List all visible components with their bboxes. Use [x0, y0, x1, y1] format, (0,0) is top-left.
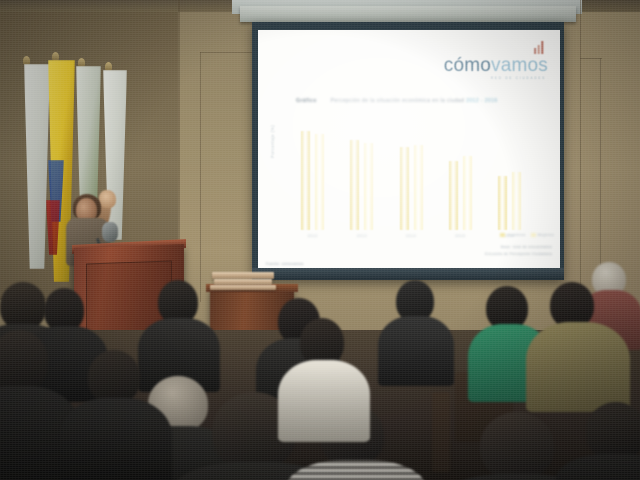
shoulders: [278, 360, 370, 442]
projector-screen-housing: [240, 6, 576, 22]
flag-finial-2: [52, 52, 59, 61]
chart-bar: [400, 147, 409, 230]
chart-bar-group: [400, 145, 423, 230]
head: [586, 402, 640, 460]
chart-bar: [512, 172, 521, 230]
head: [88, 350, 140, 404]
chart-bar: [301, 131, 310, 230]
flag-finial-1: [23, 56, 30, 65]
chair-back-2: [432, 392, 450, 472]
chart-title-main: Percepción de la situación económica en …: [331, 98, 465, 104]
chart-x-label: 2012: [288, 233, 337, 238]
conference-room-photo: cómovamos RED DE CIUDADES GráficoPercepc…: [0, 0, 640, 480]
logo-text-secondary: vamos: [491, 55, 548, 76]
projector-screen-surface: cómovamos RED DE CIUDADES GráficoPercepc…: [258, 30, 560, 274]
cómovamos-logo: cómovamos: [444, 56, 548, 75]
chart-bar: [315, 134, 324, 230]
chart-legend-label: Hombres: [507, 232, 525, 237]
head: [300, 318, 344, 366]
chart-title-highlight: 2012 - 2016: [466, 98, 498, 104]
projector-screen-bottom-bar: [252, 268, 564, 280]
chart-plot-area: [288, 118, 534, 230]
chart-legend-label: Mujeres: [538, 232, 554, 237]
chart-bar: [350, 140, 359, 230]
chart-bar: [498, 176, 507, 230]
chart-legend-item: Mujeres: [531, 232, 554, 237]
shoulders: [526, 322, 630, 412]
chart-x-label: 2013: [337, 233, 386, 238]
flag-finial-3: [78, 58, 85, 67]
chart-title-lead: Gráfico: [296, 98, 317, 104]
head: [480, 412, 554, 480]
chart-x-label: 2014: [386, 233, 435, 238]
chart-bar: [463, 156, 472, 230]
slide-footnote: Base: total de encuestados Encuesta de P…: [485, 244, 552, 258]
chart-bar-group: [301, 131, 324, 230]
chart-legend-item: Hombres: [500, 232, 525, 237]
shoulders: [60, 398, 172, 480]
chart-bar: [414, 145, 423, 230]
wall-seam-right3: [580, 58, 602, 59]
microphone: [102, 222, 118, 242]
chart-y-axis-label: Porcentaje (%): [270, 125, 275, 158]
chart-x-label: 2015: [436, 233, 485, 238]
chart-bar-group: [350, 140, 373, 230]
slide-chart-title: GráficoPercepción de la situación económ…: [296, 98, 528, 104]
logo-text-primary: cómo: [444, 55, 491, 76]
logo-tagline: RED DE CIUDADES: [491, 76, 546, 80]
presentation-slide: cómovamos RED DE CIUDADES GráficoPercepc…: [258, 30, 560, 274]
slide-source: Fuente: cómovamos: [266, 262, 304, 266]
chart-bar: [364, 143, 373, 230]
shoulders: [378, 316, 454, 386]
chart-bar-group: [449, 156, 472, 230]
chart-bar: [449, 161, 458, 230]
wall-seam-b: [200, 52, 256, 53]
speaker-hand: [99, 190, 116, 208]
footnote-line-1: Base: total de encuestados: [485, 244, 552, 251]
flag-finial-4: [105, 62, 112, 71]
wall-seam-a: [200, 52, 201, 302]
footnote-line-2: Encuesta de Percepción Ciudadana: [485, 251, 552, 258]
chart-bar-group: [498, 172, 521, 230]
document-stack-3: [210, 285, 276, 290]
chart-legend: HombresMujeres: [495, 232, 554, 237]
wall-seam-right: [580, 0, 581, 330]
bar-chart-logo-icon: [532, 40, 546, 54]
head: [0, 282, 46, 330]
document-stack-1: [212, 272, 274, 279]
